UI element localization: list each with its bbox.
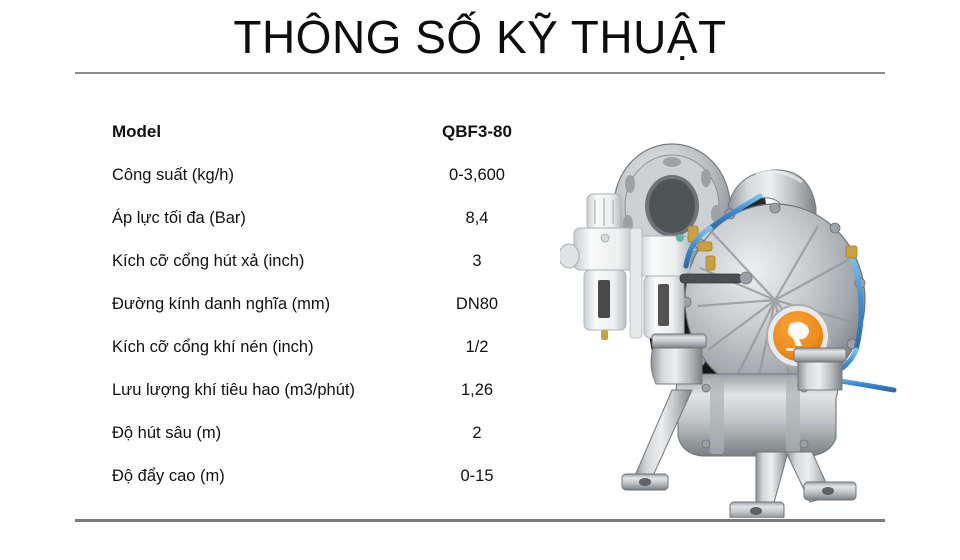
- table-row: Kích cỡ cổng hút xả (inch) 3: [112, 251, 542, 294]
- pump-leg-right: [730, 452, 856, 518]
- table-row: Công suất (kg/h) 0-3,600: [112, 165, 542, 208]
- spec-value: DN80: [412, 294, 542, 314]
- table-row: Độ hút sâu (m) 2: [112, 423, 542, 466]
- spec-label: Áp lực tối đa (Bar): [112, 208, 246, 228]
- spec-label: Độ hút sâu (m): [112, 423, 221, 443]
- spec-value: 2: [412, 423, 542, 443]
- spec-label: Công suất (kg/h): [112, 165, 234, 185]
- table-row: Đường kính danh nghĩa (mm) DN80: [112, 294, 542, 337]
- table-header-label: Model: [112, 122, 161, 142]
- left-downpipe: [651, 334, 706, 384]
- spec-label: Độ đẩy cao (m): [112, 466, 225, 486]
- spec-value: 1/2: [412, 337, 542, 357]
- table-row: Độ đẩy cao (m) 0-15: [112, 466, 542, 509]
- spec-value: 8,4: [412, 208, 542, 228]
- table-header-row: Model QBF3-80: [112, 122, 542, 165]
- divider-bottom: [75, 519, 885, 522]
- spec-label: Kích cỡ cổng hút xả (inch): [112, 251, 304, 271]
- table-row: Áp lực tối đa (Bar) 8,4: [112, 208, 542, 251]
- pump-illustration: [560, 78, 960, 518]
- right-downpipe: [794, 348, 846, 390]
- product-photo-diaphragm-pump: [560, 78, 960, 518]
- spec-label: Lưu lượng khí tiêu hao (m3/phút): [112, 380, 355, 400]
- table-row: Lưu lượng khí tiêu hao (m3/phút) 1,26: [112, 380, 542, 423]
- slide-canvas: THÔNG SỐ KỸ THUẬT Model QBF3-80 Công suấ…: [0, 0, 960, 560]
- spec-value: 0-3,600: [412, 165, 542, 185]
- spec-value: 1,26: [412, 380, 542, 400]
- page-title: THÔNG SỐ KỸ THUẬT: [0, 14, 960, 60]
- spec-label: Đường kính danh nghĩa (mm): [112, 294, 330, 314]
- spec-value: 3: [412, 251, 542, 271]
- spec-value: 0-15: [412, 466, 542, 486]
- table-header-value: QBF3-80: [412, 122, 542, 142]
- table-row: Kích cỡ cổng khí nén (inch) 1/2: [112, 337, 542, 380]
- spec-label: Kích cỡ cổng khí nén (inch): [112, 337, 314, 357]
- specification-table: Model QBF3-80 Công suất (kg/h) 0-3,600 Á…: [112, 122, 542, 509]
- divider-top: [75, 72, 885, 74]
